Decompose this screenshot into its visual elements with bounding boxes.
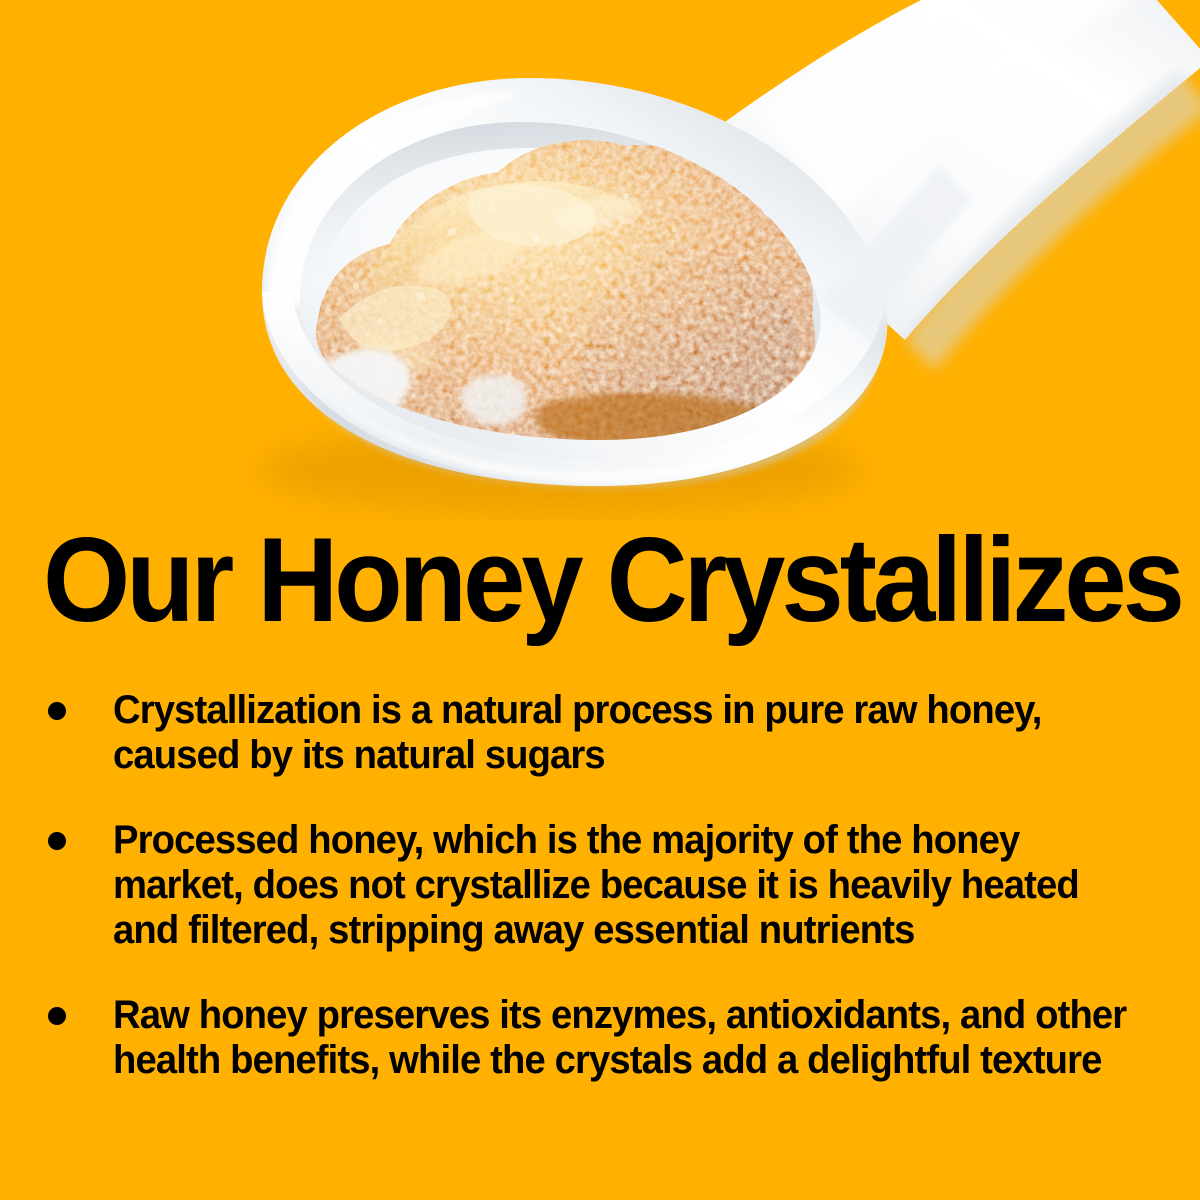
benefits-list: Crystallization is a natural process in … — [48, 688, 1188, 1083]
list-item-text: Crystallization is a natural process in … — [113, 688, 1140, 778]
bullet-dot-icon — [48, 1007, 66, 1025]
list-item: Processed honey, which is the majority o… — [48, 818, 1188, 953]
honey-infographic-poster: Our Honey Crystallizes Crystallization i… — [0, 0, 1200, 1200]
list-item: Raw honey preserves its enzymes, antioxi… — [48, 993, 1188, 1083]
hero-image-spoon-of-crystallized-honey — [0, 0, 1200, 520]
list-item: Crystallization is a natural process in … — [48, 688, 1188, 778]
bullet-dot-icon — [48, 702, 66, 720]
page-title: Our Honey Crystallizes — [43, 521, 1100, 639]
list-item-text: Raw honey preserves its enzymes, antioxi… — [113, 993, 1140, 1083]
bullet-dot-icon — [48, 832, 66, 850]
list-item-text: Processed honey, which is the majority o… — [113, 818, 1140, 953]
spoon-illustration — [0, 0, 1200, 520]
